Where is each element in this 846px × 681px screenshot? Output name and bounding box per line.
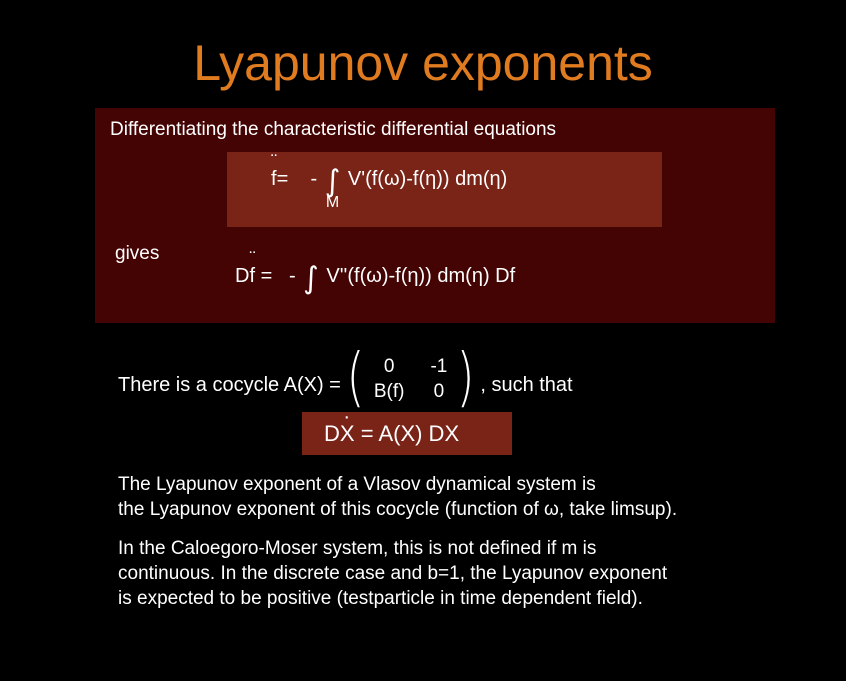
integral-icon: ∫M — [325, 171, 341, 192]
formula-box-dx: D·X = A(X) DX — [302, 412, 512, 455]
equation-second-integrand: V''(f(ω)-f(η)) dm(η) Df — [326, 265, 515, 287]
equation-main-integrand: V'(f(ω)-f(η)) dm(η) — [348, 168, 507, 190]
equation-main-equals: = — [277, 168, 289, 190]
equation-main: ¨f= - ∫M V'(f(ω)-f(η)) dm(η) — [271, 166, 507, 192]
equation-dx-D: D — [324, 421, 340, 446]
cocycle-suffix-text: , such that — [480, 372, 572, 398]
paragraph-lyapunov-definition: The Lyapunov exponent of a Vlasov dynami… — [118, 472, 677, 522]
equation-main-minus: - — [310, 168, 317, 190]
matrix-cell-1-1: 0 — [430, 379, 447, 404]
integral-icon-2: ∫ — [303, 268, 319, 289]
equation-dx: D·X = A(X) DX — [324, 421, 459, 447]
equation-main-lhs: f — [271, 168, 277, 190]
gives-label: gives — [115, 242, 159, 266]
equation-panel: Differentiating the characteristic diffe… — [95, 108, 775, 323]
double-dot-accent-icon-2: ¨ — [249, 249, 255, 267]
panel-lead-text: Differentiating the characteristic diffe… — [110, 118, 556, 142]
equation-second: D¨f = - ∫ V''(f(ω)-f(η)) dm(η) Df — [235, 263, 515, 289]
cocycle-matrix: ( 0 -1 B(f) 0 ) — [343, 354, 478, 404]
x-with-dot: ·X — [340, 421, 355, 447]
equation-dx-rest: = A(X) DX — [361, 421, 459, 446]
paragraph-calogero-moser: In the Caloegoro-Moser system, this is n… — [118, 536, 667, 611]
slide-root: Lyapunov exponents Differentiating the c… — [0, 0, 846, 681]
equation-second-equals: = — [261, 265, 273, 287]
integral-limit-M: M — [326, 195, 339, 211]
matrix-cell-0-1: -1 — [430, 354, 447, 379]
matrix-grid: 0 -1 B(f) 0 — [368, 354, 454, 404]
matrix-cell-0-0: 0 — [374, 354, 405, 379]
single-dot-accent-icon: · — [340, 407, 355, 427]
formula-box-primary: ¨f= - ∫M V'(f(ω)-f(η)) dm(η) — [227, 152, 662, 227]
f-with-double-dot: ¨f — [271, 166, 277, 192]
matrix-cell-1-0: B(f) — [374, 379, 405, 404]
cocycle-statement: There is a cocycle A(X) = ( 0 -1 B(f) 0 … — [118, 360, 573, 410]
equation-second-minus: - — [289, 265, 296, 287]
equation-second-D: D — [235, 265, 249, 287]
f-with-double-dot-2: ¨f — [249, 263, 255, 289]
right-paren-icon: ) — [457, 359, 475, 399]
integral-glyph-2: ∫ — [303, 261, 319, 296]
left-paren-icon: ( — [346, 359, 364, 399]
equation-second-f: f — [249, 265, 255, 287]
page-title: Lyapunov exponents — [0, 34, 846, 92]
cocycle-prefix-text: There is a cocycle A(X) = — [118, 372, 341, 398]
double-dot-accent-icon: ¨ — [271, 152, 277, 170]
